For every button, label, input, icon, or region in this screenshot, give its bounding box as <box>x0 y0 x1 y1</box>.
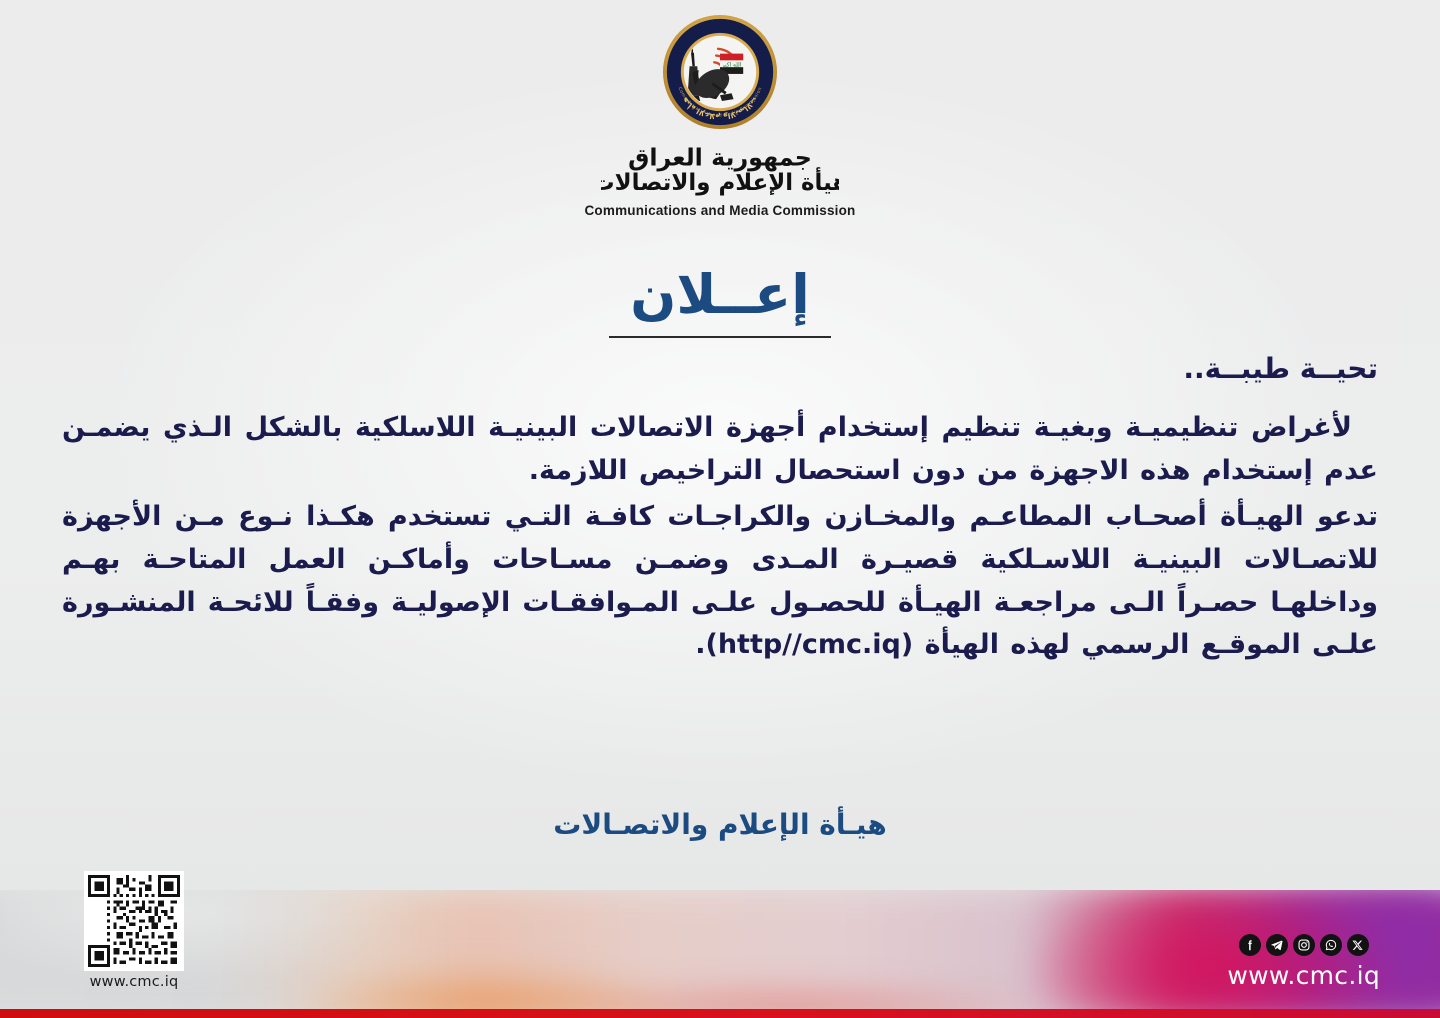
calligraphy-line1: جمهورية العراق <box>628 143 812 171</box>
social-icon-row[interactable] <box>1227 934 1380 956</box>
title-section: إعــلان <box>0 268 1440 338</box>
arabic-calligraphy-lockup: جمهورية العراق هيأة الإعلام والاتصالات <box>0 136 1440 202</box>
svg-text:الله اكبر: الله اكبر <box>721 62 742 69</box>
band-red-strip <box>0 1009 1440 1018</box>
organization-name-en: Communications and Media Commission <box>0 203 1440 218</box>
band-glow-gradient <box>0 890 1440 1018</box>
instagram-icon[interactable] <box>1293 934 1315 956</box>
page-title: إعــلان <box>0 268 1440 322</box>
qr-block[interactable]: www.cmc.iq <box>78 871 190 990</box>
qr-code-icon[interactable] <box>84 871 184 971</box>
cmc-emblem-icon: الله اكبر <box>662 14 778 130</box>
title-underline <box>609 336 831 338</box>
footer-website-url[interactable]: www.cmc.iq <box>1227 961 1380 990</box>
x-twitter-icon[interactable] <box>1347 934 1369 956</box>
announcement-body: تحيــة طيبــة.. لأغراض تنظيميـة وبغيـة ت… <box>62 352 1378 671</box>
social-block: www.cmc.iq <box>1227 934 1380 990</box>
facebook-icon[interactable] <box>1239 934 1261 956</box>
announcement-poster: الله اكبر <box>0 0 1440 1018</box>
body-paragraph-2: تدعو الهيـأة أصحـاب المطاعـم والمخـازن و… <box>62 496 1378 667</box>
greeting-line: تحيــة طيبــة.. <box>62 352 1378 385</box>
telegram-icon[interactable] <box>1266 934 1288 956</box>
poster-header: الله اكبر <box>0 14 1440 218</box>
body-paragraph-1: لأغراض تنظيميـة وبغيـة تنظيم إستخدام أجه… <box>62 407 1378 492</box>
signature-line: هيـأة الإعلام والاتصـالات <box>0 808 1440 841</box>
footer-band <box>0 890 1440 1018</box>
whatsapp-icon[interactable] <box>1320 934 1342 956</box>
qr-label: www.cmc.iq <box>78 974 190 990</box>
calligraphy-line2: هيأة الإعلام والاتصالات <box>601 166 839 196</box>
